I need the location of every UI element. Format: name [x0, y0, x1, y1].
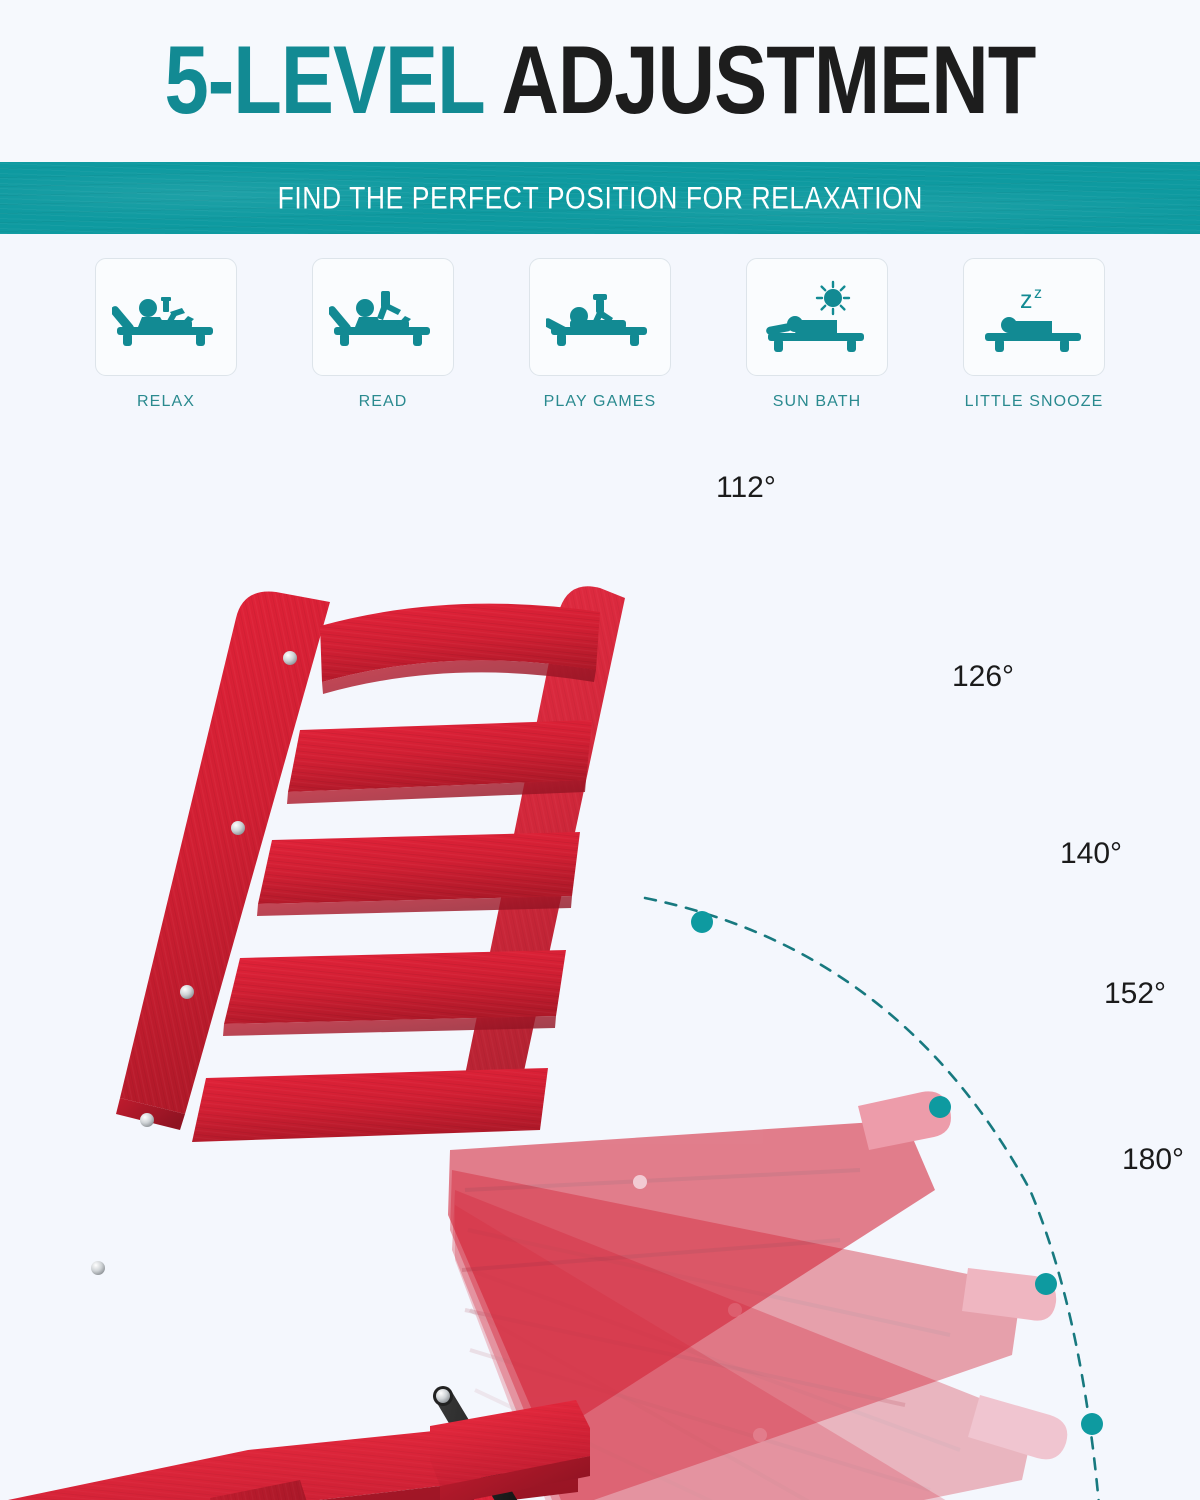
person-sunbathing-with-sun-icon: [763, 280, 871, 354]
angle-label-112: 112°: [716, 471, 776, 505]
person-sleeping-zz-icon: z z: [980, 280, 1088, 354]
angle-dot-152: [1081, 1413, 1103, 1435]
page-title-accent: 5-LEVEL: [165, 27, 484, 134]
angle-dot-126: [929, 1096, 951, 1118]
angle-dot-140: [1035, 1273, 1057, 1295]
page-title: 5-LEVEL ADJUSTMENT: [165, 33, 1036, 130]
feature-card-label: PLAY GAMES: [544, 393, 657, 411]
feature-card-box: [746, 258, 888, 376]
person-lounging-with-drink-icon: [112, 286, 220, 348]
header-title-bar: 5-LEVEL ADJUSTMENT: [0, 0, 1200, 162]
feature-card-box: z z: [963, 258, 1105, 376]
feature-card-label: READ: [359, 393, 408, 411]
feature-card-box: [95, 258, 237, 376]
product-illustration-stage: 112° 126° 140° 152° 180°: [0, 430, 1200, 1500]
feature-card-label: LITTLE SNOOZE: [965, 393, 1104, 411]
page-title-rest: ADJUSTMENT: [483, 27, 1035, 134]
angle-dot-112: [691, 911, 713, 933]
angle-label-152: 152°: [1104, 977, 1166, 1011]
feature-card-box: [529, 258, 671, 376]
person-reading-book-icon: [329, 286, 437, 348]
angle-label-126: 126°: [952, 660, 1014, 694]
feature-card-play-games[interactable]: PLAY GAMES: [524, 258, 677, 418]
feature-card-relax[interactable]: RELAX: [90, 258, 243, 418]
feature-card-little-snooze[interactable]: z z LITTLE SNOOZE: [958, 258, 1111, 418]
person-playing-handheld-icon: [546, 286, 654, 348]
banner-subtitle-text: FIND THE PERFECT POSITION FOR RELAXATION: [277, 180, 922, 216]
feature-card-label: RELAX: [137, 393, 195, 411]
chaise-lounge-recline-diagram: [0, 430, 1200, 1500]
svg-text:z: z: [1020, 286, 1033, 314]
angle-label-140: 140°: [1060, 837, 1122, 871]
feature-card-read[interactable]: READ: [307, 258, 460, 418]
angle-label-180: 180°: [1122, 1143, 1184, 1177]
feature-card-label: SUN BATH: [773, 393, 862, 411]
feature-card-row: RELAX: [0, 258, 1200, 418]
feature-card-sun-bath[interactable]: SUN BATH: [741, 258, 894, 418]
subtitle-banner: FIND THE PERFECT POSITION FOR RELAXATION: [0, 162, 1200, 234]
feature-card-box: [312, 258, 454, 376]
svg-text:z: z: [1034, 285, 1042, 302]
infographic-page: 5-LEVEL ADJUSTMENT FIND THE PERFECT POSI…: [0, 0, 1200, 1500]
